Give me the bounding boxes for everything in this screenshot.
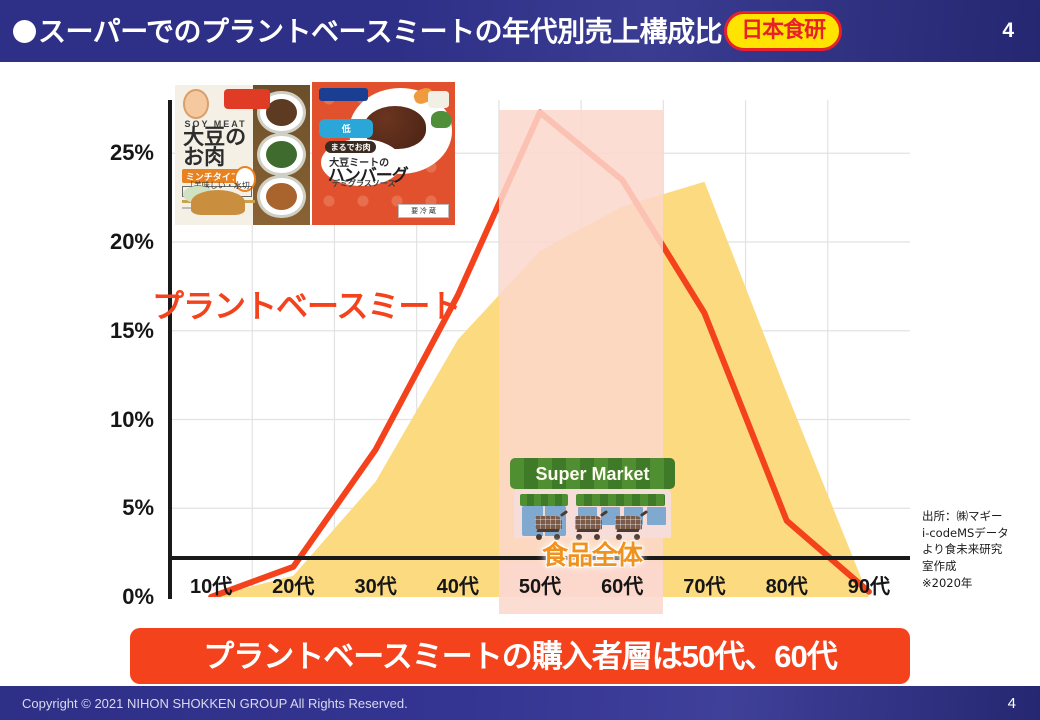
market-caption: 食品全体 [502,542,682,568]
source-note-line: ※2020年 [922,575,1038,592]
y-axis-tick: 20% [110,229,154,255]
callout-text: プラントベースミートの購入者層は50代、60代 [203,641,836,672]
maker-logo [319,88,368,101]
y-axis-line [168,100,172,599]
product-sauce: デミグラスソース [332,178,395,189]
awning-right-icon [576,494,665,506]
source-note-line: 出所：㈱マギー [922,508,1038,525]
source-note-line: i-codeMSデータ [922,525,1038,542]
y-axis-labels: 0%5%10%15%20%25% [0,100,168,597]
chart-area: 0%5%10%15%20%25% 10代20代30代40代50代60代70代80… [0,62,1040,622]
x-axis-tick: 30代 [354,570,396,599]
product-image-soy-meat-pouch: SOY MEAT 大豆のお肉 ミンチタイプ ［美味しい・水切り不要］ [175,85,310,225]
mascot-face-icon [183,89,209,119]
y-axis-tick: 25% [110,140,154,166]
page-title: スーパーでのプラントベースミートの年代別売上構成比 [38,16,722,46]
slide: スーパーでのプラントベースミートの年代別売上構成比 日本食研 4 0%5%10%… [0,0,1040,720]
x-axis-tick: 10代 [190,570,232,599]
y-axis-tick: 5% [122,495,154,521]
slide-footer: Copyright © 2021 NIHON SHOKKEN GROUP All… [0,686,1040,720]
x-axis-tick: 70代 [683,570,725,599]
x-axis-tick: 60代 [601,570,643,599]
shopping-cart-icon [533,516,568,542]
callout-banner: プラントベースミートの購入者層は50代、60代 [130,628,910,684]
product-frozen-label: 要 冷 蔵 [398,204,449,218]
x-axis-tick: 50代 [519,570,561,599]
y-axis-tick: 15% [110,318,154,344]
y-axis-tick: 10% [110,407,154,433]
product-mince-photo [191,190,245,215]
source-note-line: より食未来研究 [922,541,1038,558]
source-note: 出所：㈱マギーi-codeMSデータより食未来研究室作成※2020年 [922,508,1038,591]
footer-page-number: 4 [1008,695,1016,712]
series-label-pbm: プラントベースミート [152,290,460,322]
x-axis-labels: 10代20代30代40代50代60代70代80代90代 [170,570,910,614]
brand-badge: 日本食研 [724,11,842,51]
supermarket-illustration: Super Market 食 [502,458,682,554]
x-axis-tick: 40代 [437,570,479,599]
slide-header: スーパーでのプラントベースミートの年代別売上構成比 日本食研 4 [0,0,1040,62]
brand-badge-label: 日本食研 [741,19,825,43]
shopping-cart-icon [613,516,648,542]
product-marude-label: まるでお肉 [325,141,376,154]
shopping-cart-icon [573,516,608,542]
header-page-number: 4 [1002,19,1014,43]
product-chol-label: 低 [319,119,373,138]
y-axis-tick: 0% [122,584,154,610]
product-title: 大豆のお肉 [183,128,246,168]
copyright-text: Copyright © 2021 NIHON SHOKKEN GROUP All… [22,696,408,711]
x-axis-tick: 20代 [272,570,314,599]
x-axis-tick: 80代 [766,570,808,599]
bullet-icon [13,20,36,43]
product-flag [224,89,270,109]
market-sign-label: Super Market [535,465,649,483]
x-axis-tick: 90代 [848,570,890,599]
source-note-line: 室作成 [922,558,1038,575]
market-sign: Super Market [510,458,675,489]
product-image-soy-hamburg: 低 まるでお肉 大豆ミートの ハンバーグ デミグラスソース 要 冷 蔵 [312,82,455,225]
store-window-icon [647,507,666,525]
awning-left-icon [520,494,568,506]
